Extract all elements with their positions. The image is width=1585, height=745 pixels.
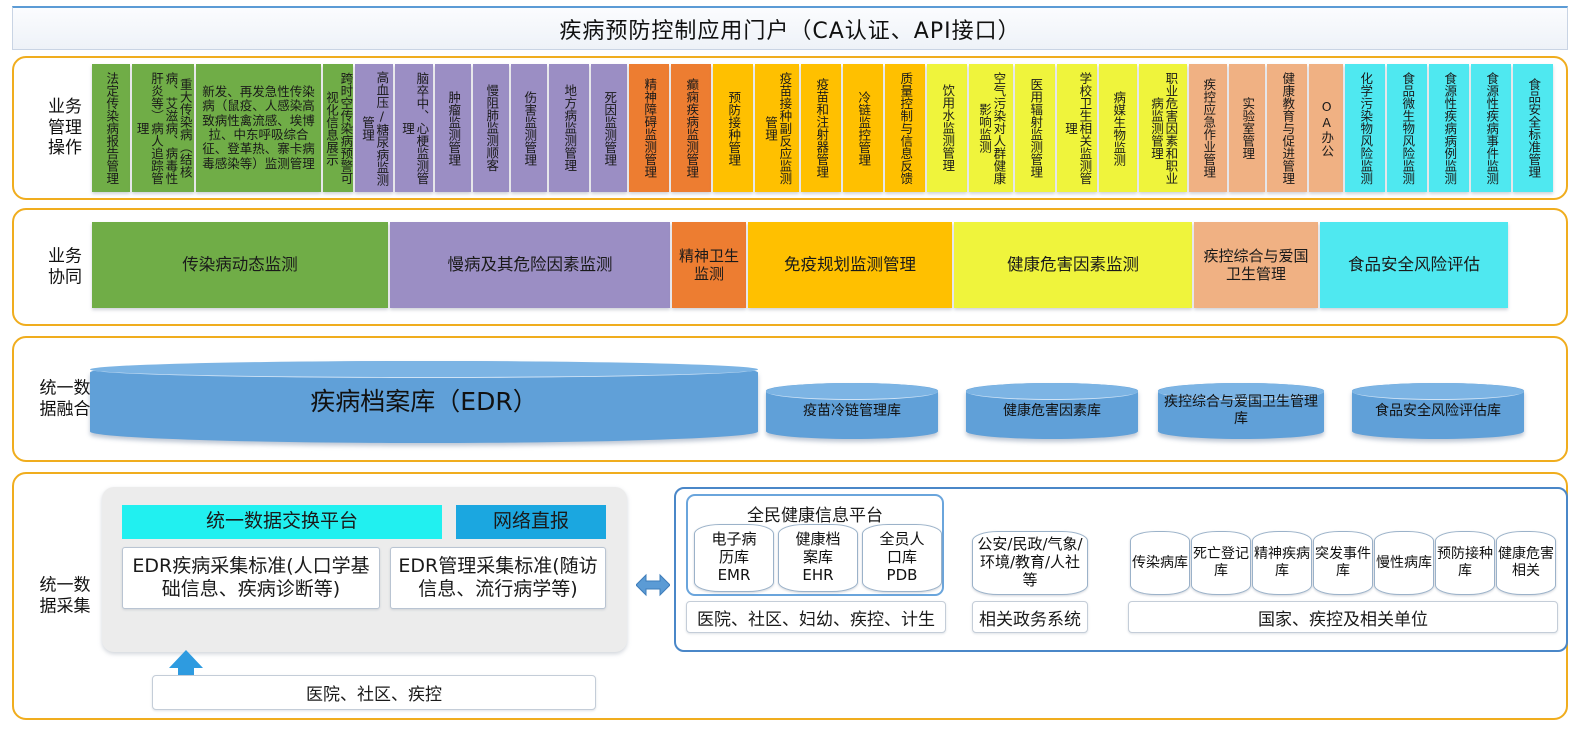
- ops-tile-label: 地方病监测管理: [560, 84, 578, 172]
- ops-tile-27[interactable]: OA办公: [1309, 64, 1343, 192]
- ops-tile-label: 肿瘤监测管理: [444, 91, 462, 166]
- ops-tile-label: 脑卒中、心梗监测管理: [398, 67, 431, 189]
- ops-tile-25[interactable]: 实验室管理: [1229, 64, 1265, 192]
- ops-tile-label: 高血压/糖尿病监测管理: [358, 67, 391, 189]
- band-label-collaboration: 业务协同: [28, 246, 102, 287]
- ops-tile-label: 健康教育与促进管理: [1278, 72, 1296, 185]
- collab-tile-label: 精神卫生监测: [672, 247, 746, 283]
- ops-tile-label: 医用辐射监测管理: [1026, 78, 1044, 178]
- ops-tile-15[interactable]: 疫苗和注射器管理: [801, 64, 841, 192]
- national-db-3[interactable]: 突发事件库: [1313, 531, 1373, 595]
- national-db-4[interactable]: 慢性病库: [1374, 531, 1434, 595]
- database-label: 疾控综合与爱国卫生管理库: [1158, 394, 1324, 428]
- ops-tile-label: 冷链监控管理: [854, 91, 872, 166]
- ops-tile-label: 化学污染物风险监测: [1356, 72, 1374, 185]
- ops-tile-label: 食源性疾病病例监测: [1440, 72, 1458, 185]
- ops-tile-label: 疫苗和注射器管理: [812, 78, 830, 178]
- ops-tile-9[interactable]: 地方病监测管理: [549, 64, 589, 192]
- national-db-1[interactable]: 死亡登记库: [1191, 531, 1251, 595]
- ops-tile-label: 精神障碍监测管理: [640, 78, 658, 178]
- ops-tile-label: 食源性疾病事件监测: [1482, 72, 1500, 185]
- ops-tile-label: OA办公: [1317, 99, 1335, 158]
- national-db-label: 传染病库: [1132, 555, 1188, 572]
- collab-tile-0[interactable]: 传染病动态监测: [92, 222, 388, 308]
- ops-tile-label: 跨时空传染病预警可视化信息展示: [323, 67, 353, 189]
- ops-tile-26[interactable]: 健康教育与促进管理: [1267, 64, 1307, 192]
- ops-tile-14[interactable]: 疫苗接种副反应监测管理: [755, 64, 799, 192]
- database-cylinder-0[interactable]: 疾病档案库（EDR）: [90, 361, 758, 443]
- database-label: 食品安全风险评估库: [1369, 403, 1507, 420]
- collab-tile-3[interactable]: 免疫规划监测管理: [748, 222, 952, 308]
- national-health-platform-title: 全民健康信息平台: [688, 496, 942, 526]
- database-cylinder-4[interactable]: 食品安全风险评估库: [1352, 383, 1524, 439]
- health-platform-db-1[interactable]: 健康档案库EHR: [778, 524, 858, 592]
- ops-tile-label: 学校卫生相关监测管理: [1061, 67, 1094, 189]
- ops-tile-label: 食品微生物风险监测: [1398, 72, 1416, 185]
- ops-tile-label: 慢阻肺监测顺客: [482, 84, 500, 172]
- ops-tile-label: 重大传染病（结核病、艾滋病、病毒性肝炎等）病人追踪管理: [132, 67, 194, 189]
- ops-tile-19[interactable]: 空气污染对人群健康影响监测: [969, 64, 1013, 192]
- direct-network-report-chip[interactable]: 网络直报: [456, 505, 606, 539]
- national-db-0[interactable]: 传染病库: [1130, 531, 1190, 595]
- collab-tile-label: 传染病动态监测: [178, 255, 302, 275]
- ops-tile-11[interactable]: 精神障碍监测管理: [629, 64, 669, 192]
- collab-tile-label: 食品安全风险评估: [1344, 255, 1484, 275]
- ops-tile-28[interactable]: 化学污染物风险监测: [1345, 64, 1385, 192]
- ops-tile-label: 饮用水监测管理: [938, 84, 956, 172]
- ops-tile-8[interactable]: 伤害监测管理: [511, 64, 547, 192]
- ops-tile-label: 新发、再发急性传染病（鼠疫、人感染高致病性禽流感、埃博拉、中东呼吸综合征、登革热…: [196, 85, 321, 171]
- ops-tile-29[interactable]: 食品微生物风险监测: [1387, 64, 1427, 192]
- health-platform-db-label: 全员人口库PDB: [879, 531, 924, 584]
- health-platform-db-label: 电子病历库EMR: [711, 531, 756, 584]
- database-label: 疫苗冷链管理库: [797, 403, 907, 420]
- ops-tile-24[interactable]: 疾控应急作业管理: [1189, 64, 1227, 192]
- collab-tile-label: 慢病及其危险因素监测: [444, 255, 617, 275]
- health-platform-db-0[interactable]: 电子病历库EMR: [694, 524, 774, 592]
- page-title: 疾病预防控制应用门户（CA认证、API接口）: [559, 13, 1020, 45]
- national-db-5[interactable]: 预防接种库: [1435, 531, 1495, 595]
- source-institutions-bar: 医院、社区、疾控: [152, 675, 596, 710]
- portal-header-bar: 疾病预防控制应用门户（CA认证、API接口）: [12, 6, 1568, 50]
- database-cylinder-3[interactable]: 疾控综合与爱国卫生管理库: [1158, 383, 1324, 439]
- national-db-label: 死亡登记库: [1192, 546, 1250, 579]
- national-db-6[interactable]: 健康危害相关: [1496, 531, 1556, 595]
- collab-tile-label: 免疫规划监测管理: [780, 255, 920, 275]
- ops-tile-30[interactable]: 食源性疾病病例监测: [1429, 64, 1469, 192]
- edr-management-standard-box[interactable]: EDR管理采集标准(随访信息、流行病学等): [390, 547, 606, 609]
- ops-tile-label: 癫痫疾病监测管理: [682, 78, 700, 178]
- ops-tile-5[interactable]: 脑卒中、心梗监测管理: [395, 64, 433, 192]
- database-label: 健康危害因素库: [997, 403, 1107, 420]
- ops-tile-label: 预防接种管理: [724, 91, 742, 166]
- ops-tile-label: 伤害监测管理: [520, 91, 538, 166]
- ops-tile-4[interactable]: 高血压/糖尿病监测管理: [355, 64, 393, 192]
- ops-tile-31[interactable]: 食源性疾病事件监测: [1471, 64, 1511, 192]
- ops-tile-1[interactable]: 重大传染病（结核病、艾滋病、病毒性肝炎等）病人追踪管理: [132, 64, 194, 192]
- ops-tile-10[interactable]: 死因监测管理: [591, 64, 627, 192]
- database-label: 疾病档案库（EDR）: [304, 387, 543, 417]
- health-platform-footer: 医院、社区、妇幼、疾控、计生: [686, 601, 946, 633]
- ops-tile-label: 病媒生物监测: [1109, 91, 1127, 166]
- ops-tile-20[interactable]: 医用辐射监测管理: [1015, 64, 1055, 192]
- ops-tile-22[interactable]: 病媒生物监测: [1099, 64, 1137, 192]
- ops-tile-3[interactable]: 跨时空传染病预警可视化信息展示: [323, 64, 353, 192]
- ops-tile-label: 实验室管理: [1238, 97, 1256, 160]
- ops-tile-label: 疫苗接种副反应监测管理: [761, 67, 794, 189]
- edr-disease-standard-box[interactable]: EDR疾病采集标准(人口学基础信息、疾病诊断等): [122, 547, 380, 609]
- national-db-label: 精神疾病库: [1253, 546, 1311, 579]
- national-units-footer: 国家、疾控及相关单位: [1128, 601, 1558, 633]
- architecture-diagram: 疾病预防控制应用门户（CA认证、API接口） 业务管理操作 法定传染病报告管理重…: [0, 0, 1585, 745]
- collection-standards-panel: 统一数据交换平台 网络直报 EDR疾病采集标准(人口学基础信息、疾病诊断等) E…: [102, 487, 627, 652]
- ops-tile-13[interactable]: 预防接种管理: [713, 64, 753, 192]
- collab-tile-2[interactable]: 精神卫生监测: [672, 222, 746, 308]
- operations-tile-row: 法定传染病报告管理重大传染病（结核病、艾滋病、病毒性肝炎等）病人追踪管理新发、再…: [92, 64, 1555, 192]
- collab-tile-5[interactable]: 疾控综合与爱国卫生管理: [1194, 222, 1318, 308]
- database-cylinder-1[interactable]: 疫苗冷链管理库: [766, 383, 938, 439]
- ops-tile-label: 死因监测管理: [600, 91, 618, 166]
- ops-tile-label: 食品安全标准管理: [1524, 78, 1542, 178]
- ops-tile-0[interactable]: 法定传染病报告管理: [92, 64, 130, 192]
- ops-tile-21[interactable]: 学校卫生相关监测管理: [1057, 64, 1097, 192]
- collab-tile-1[interactable]: 慢病及其危险因素监测: [390, 222, 670, 308]
- ops-tile-label: 质量控制与信息反馈: [896, 72, 914, 185]
- ops-tile-7[interactable]: 慢阻肺监测顺客: [473, 64, 509, 192]
- ops-tile-12[interactable]: 癫痫疾病监测管理: [671, 64, 711, 192]
- band-label-operations: 业务管理操作: [28, 97, 102, 159]
- national-db-label: 预防接种库: [1436, 546, 1494, 579]
- ops-tile-label: 疾控应急作业管理: [1199, 78, 1217, 178]
- unified-exchange-platform-chip[interactable]: 统一数据交换平台: [122, 505, 442, 539]
- national-db-label: 慢性病库: [1376, 555, 1432, 572]
- band-label-collection: 统一数据采集: [28, 575, 102, 616]
- ops-tile-17[interactable]: 质量控制与信息反馈: [885, 64, 925, 192]
- ops-tile-6[interactable]: 肿瘤监测管理: [435, 64, 471, 192]
- health-platform-db-label: 健康档案库EHR: [795, 531, 840, 584]
- left-right-arrow-icon: [636, 573, 670, 597]
- collab-tile-4[interactable]: 健康危害因素监测: [954, 222, 1192, 308]
- government-systems-footer: 相关政务系统: [972, 601, 1088, 633]
- ops-tile-label: 法定传染病报告管理: [102, 72, 120, 185]
- collaboration-tile-row: 传染病动态监测慢病及其危险因素监测精神卫生监测免疫规划监测管理健康危害因素监测疾…: [92, 222, 1510, 308]
- ops-tile-23[interactable]: 职业危害因素和职业病监测管理: [1139, 64, 1187, 192]
- health-platform-db-2[interactable]: 全员人口库PDB: [862, 524, 942, 592]
- ops-tile-32[interactable]: 食品安全标准管理: [1513, 64, 1553, 192]
- collab-tile-label: 疾控综合与爱国卫生管理: [1194, 247, 1318, 283]
- national-db-label: 突发事件库: [1314, 546, 1372, 579]
- ops-tile-label: 空气污染对人群健康影响监测: [975, 67, 1008, 189]
- national-db-2[interactable]: 精神疾病库: [1252, 531, 1312, 595]
- government-systems-db[interactable]: 公安/民政/气象/环境/教育/人社等: [972, 531, 1088, 595]
- ops-tile-label: 职业危害因素和职业病监测管理: [1147, 67, 1180, 189]
- national-db-label: 健康危害相关: [1497, 546, 1555, 579]
- ops-tile-16[interactable]: 冷链监控管理: [843, 64, 883, 192]
- collab-tile-6[interactable]: 食品安全风险评估: [1320, 222, 1508, 308]
- ops-tile-18[interactable]: 饮用水监测管理: [927, 64, 967, 192]
- database-cylinder-2[interactable]: 健康危害因素库: [966, 383, 1138, 439]
- ops-tile-2[interactable]: 新发、再发急性传染病（鼠疫、人感染高致病性禽流感、埃博拉、中东呼吸综合征、登革热…: [196, 64, 321, 192]
- collab-tile-label: 健康危害因素监测: [1003, 255, 1143, 275]
